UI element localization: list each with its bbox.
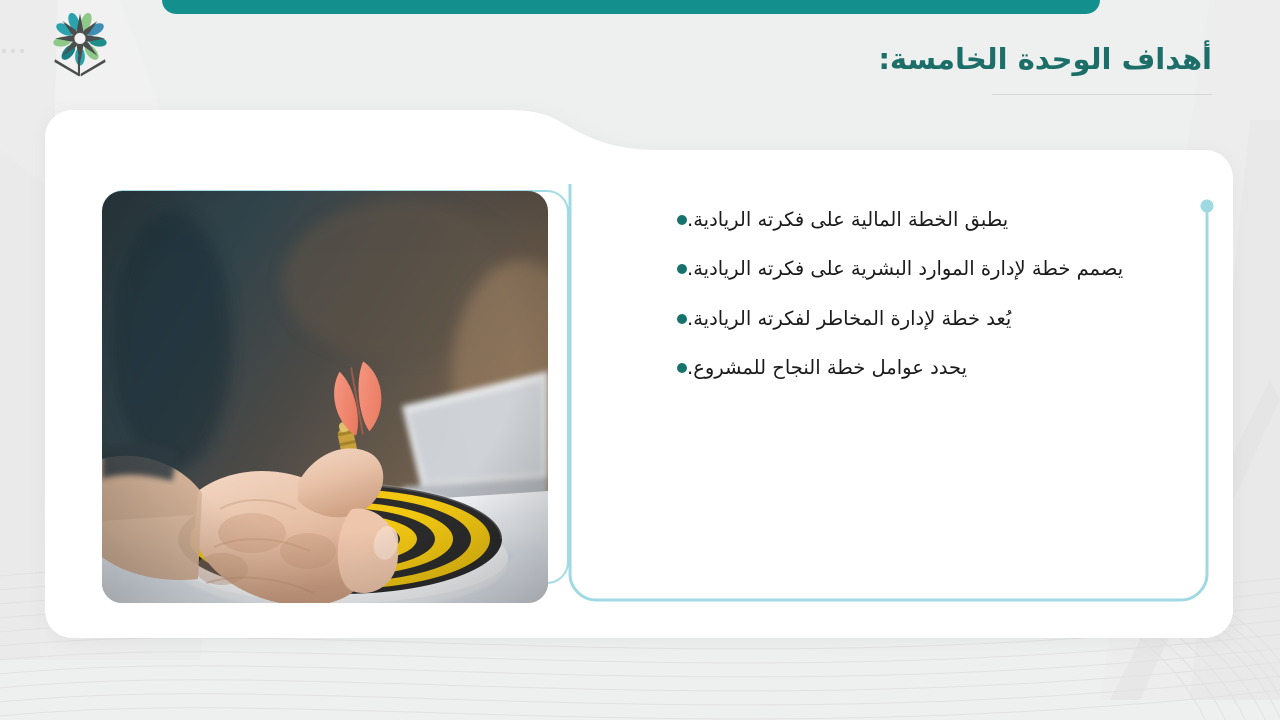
bullet-dot-icon: [677, 363, 687, 373]
logo-svg: [45, 8, 115, 80]
dart-target-photo: [102, 191, 548, 603]
dart-target-photo-svg: [102, 191, 548, 603]
objective-text: يصمم خطة لإدارة الموارد البشرية على فكرت…: [687, 254, 1123, 283]
list-item[interactable]: يُعد خطة لإدارة المخاطر لفكرته الريادية.: [665, 304, 1205, 333]
top-accent-bar: [162, 0, 1100, 14]
list-item[interactable]: يصمم خطة لإدارة الموارد البشرية على فكرت…: [665, 254, 1205, 283]
bullet-dot-icon: [677, 215, 687, 225]
objectives-list: يطبق الخطة المالية على فكرته الريادية. ي…: [665, 205, 1205, 402]
slide-root: أهداف الوحدة الخامسة:: [0, 0, 1280, 720]
objective-text: يحدد عوامل خطة النجاح للمشروع.: [687, 353, 967, 382]
objective-text: يطبق الخطة المالية على فكرته الريادية.: [687, 205, 1008, 234]
bullet-dot-icon: [677, 314, 687, 324]
list-item[interactable]: يطبق الخطة المالية على فكرته الريادية.: [665, 205, 1205, 234]
page-title: أهداف الوحدة الخامسة:: [878, 42, 1212, 76]
bullet-dot-icon: [677, 264, 687, 274]
list-item[interactable]: يحدد عوامل خطة النجاح للمشروع.: [665, 353, 1205, 382]
objective-text: يُعد خطة لإدارة المخاطر لفكرته الريادية.: [687, 304, 1011, 333]
institution-logo: [45, 8, 115, 80]
title-underline: [992, 94, 1212, 95]
